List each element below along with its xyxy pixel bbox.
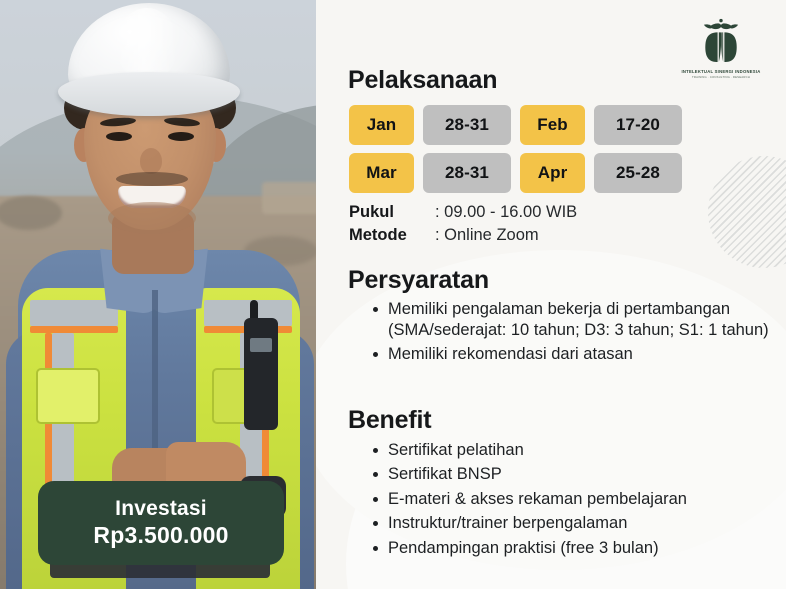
- reflective-stripe: [30, 326, 118, 333]
- radio-screen: [250, 338, 272, 352]
- meta-value-metode: : Online Zoom: [435, 224, 539, 247]
- mustache: [116, 172, 188, 186]
- vest-pocket-left: [36, 368, 100, 424]
- list-item: Pendampingan praktisi (free 3 bulan): [388, 538, 786, 559]
- investment-label: Investasi: [115, 497, 207, 520]
- nose: [140, 148, 162, 174]
- list-item: Memiliki pengalaman bekerja di pertamban…: [388, 299, 786, 342]
- persyaratan-list: Memiliki pengalaman bekerja di pertamban…: [368, 299, 786, 367]
- section-heading-persyaratan: Persyaratan: [348, 266, 489, 295]
- logo-tagline: TRAINING . CONSULTING . RESEARCH: [692, 75, 750, 79]
- mining-worker-photo: Investasi Rp3.500.000: [0, 0, 316, 589]
- meta-key-metode: Metode: [349, 224, 435, 247]
- logo-company-name: INTELEKTUAL SINERGI INDONESIA: [681, 69, 760, 74]
- schedule-grid: Jan 28-31 Feb 17-20 Mar 28-31 Apr 25-28: [349, 105, 682, 193]
- schedule-dates-feb: 17-20: [594, 105, 682, 145]
- list-item: E-materi & akses rekaman pembelajaran: [388, 489, 786, 510]
- list-item: Sertifikat pelatihan: [388, 440, 786, 461]
- schedule-month-apr: Apr: [520, 153, 585, 193]
- chin-shadow: [108, 202, 196, 234]
- schedule-dates-apr: 25-28: [594, 153, 682, 193]
- hard-hat-highlight: [116, 8, 178, 82]
- section-heading-pelaksanaan: Pelaksanaan: [348, 66, 497, 95]
- handheld-radio: [244, 318, 278, 430]
- section-heading-benefit: Benefit: [348, 406, 431, 435]
- investment-price: Rp3.500.000: [93, 523, 228, 548]
- schedule-dates-jan: 28-31: [423, 105, 511, 145]
- content-panel: INTELEKTUAL SINERGI INDONESIA TRAINING .…: [316, 0, 786, 589]
- list-item: Sertifikat BNSP: [388, 464, 786, 485]
- schedule-month-feb: Feb: [520, 105, 585, 145]
- meta-value-pukul: : 09.00 - 16.00 WIB: [435, 201, 577, 224]
- benefit-list: Sertifikat pelatihan Sertifikat BNSP E-m…: [368, 440, 786, 562]
- schedule-month-mar: Mar: [349, 153, 414, 193]
- session-meta: Pukul : 09.00 - 16.00 WIB Metode : Onlin…: [349, 201, 577, 247]
- meta-row-pukul: Pukul : 09.00 - 16.00 WIB: [349, 201, 577, 224]
- training-promo-poster: Investasi Rp3.500.000: [0, 0, 786, 589]
- reflective-band: [30, 300, 118, 326]
- company-logo: INTELEKTUAL SINERGI INDONESIA TRAINING .…: [678, 16, 764, 88]
- list-item: Memiliki rekomendasi dari atasan: [388, 344, 786, 365]
- leaf-monogram-icon: [693, 16, 749, 68]
- schedule-dates-mar: 28-31: [423, 153, 511, 193]
- meta-key-pukul: Pukul: [349, 201, 435, 224]
- list-item: Instruktur/trainer berpengalaman: [388, 513, 786, 534]
- schedule-month-jan: Jan: [349, 105, 414, 145]
- eye-right: [168, 132, 194, 141]
- meta-row-metode: Metode : Online Zoom: [349, 224, 577, 247]
- investment-badge: Investasi Rp3.500.000: [38, 481, 284, 565]
- eye-left: [106, 132, 132, 141]
